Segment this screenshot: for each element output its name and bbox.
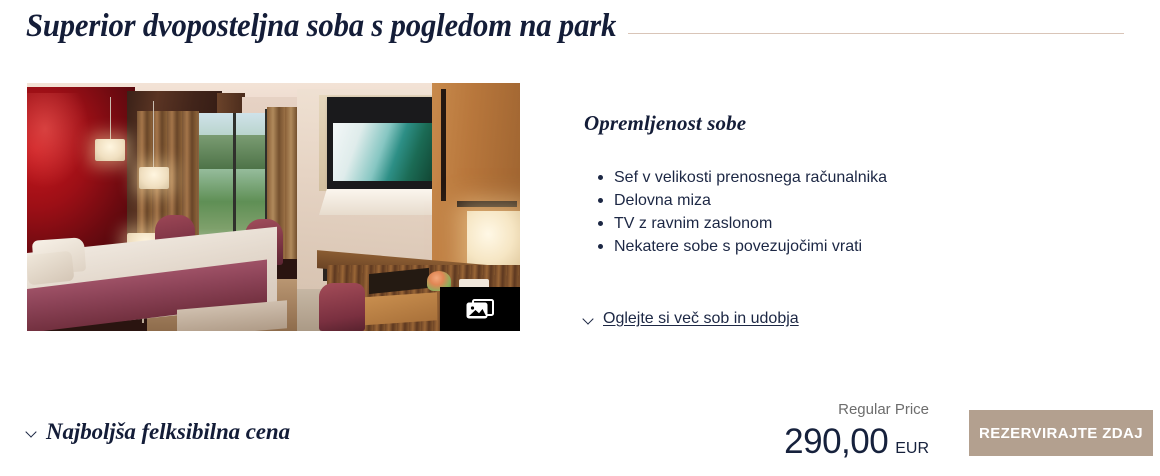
price-amount-row: 290,00 EUR <box>784 422 929 462</box>
room-photo[interactable] <box>27 83 520 331</box>
photo-column-slot-1 <box>441 89 446 201</box>
price-caption: Regular Price <box>784 400 929 420</box>
list-item: Nekatere sobe s povezujočimi vrati <box>614 235 887 258</box>
photo-tv-ledge <box>319 189 449 215</box>
price-block: Regular Price 290,00 EUR <box>784 400 929 462</box>
photo-column-slot-2 <box>457 201 517 207</box>
photo-pendant-lamp-1 <box>95 139 125 161</box>
chevron-down-icon <box>26 427 37 438</box>
images-gallery-icon <box>465 297 495 321</box>
title-divider <box>628 33 1124 34</box>
page-title: Superior dvoposteljna soba s pogledom na… <box>26 6 616 46</box>
list-item: TV z ravnim zaslonom <box>614 212 887 235</box>
photo-desk-chair <box>319 283 365 331</box>
photo-pendant-lamp-2 <box>139 167 169 189</box>
photo-desk-tray <box>357 292 437 326</box>
photo-table-lamp <box>467 211 520 269</box>
book-now-button[interactable]: REZERVIRAJTE ZDAJ <box>969 410 1153 456</box>
photo-tv-screen <box>333 123 433 181</box>
photo-pendant-cord-1 <box>110 97 111 141</box>
amenities-list: Sef v velikosti prenosnega računalnika D… <box>584 166 887 258</box>
rate-plan-name: Najboljša felksibilna cena <box>46 417 290 447</box>
list-item: Sef v velikosti prenosnega računalnika <box>614 166 887 189</box>
amenities-heading: Opremljenost sobe <box>584 110 746 136</box>
rate-plan-toggle[interactable]: Najboljša felksibilna cena <box>26 417 290 447</box>
gallery-badge[interactable] <box>440 287 520 331</box>
photo-pillow-2 <box>27 251 74 286</box>
more-rooms-link[interactable]: Oglejte si več sob in udobja <box>583 310 799 328</box>
list-item: Delovna miza <box>614 189 887 212</box>
price-amount: 290,00 <box>784 422 888 462</box>
photo-pendant-cord-2 <box>153 101 154 169</box>
price-currency: EUR <box>895 439 929 459</box>
chevron-down-icon <box>583 314 594 325</box>
more-rooms-label: Oglejte si več sob in udobja <box>603 310 799 328</box>
